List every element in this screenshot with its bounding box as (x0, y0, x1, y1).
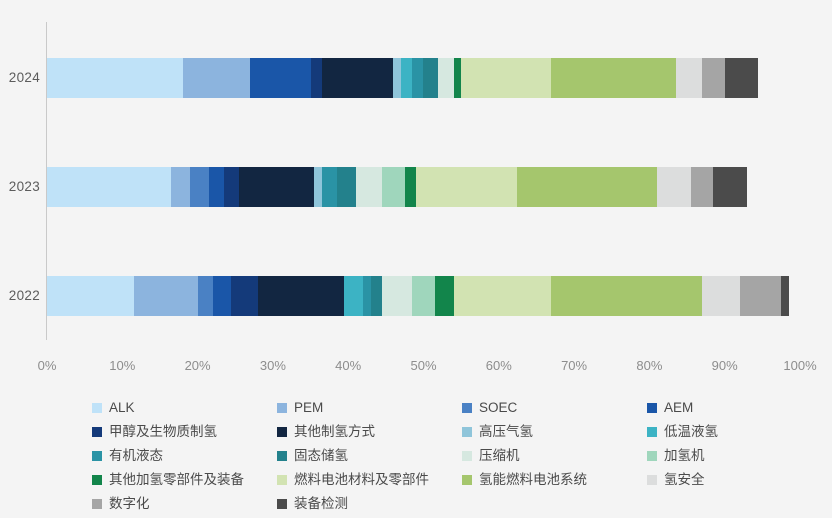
legend-item-label: 有机液态 (109, 449, 163, 463)
bar-segment[interactable] (405, 167, 416, 207)
legend-swatch-icon (92, 451, 102, 461)
legend-swatch-icon (277, 427, 287, 437)
legend-item-label: 甲醇及生物质制氢 (109, 425, 217, 439)
bar-segment[interactable] (702, 276, 740, 316)
legend-item[interactable]: 高压气氢 (462, 420, 647, 444)
x-tick-70: 70% (561, 358, 587, 373)
legend-item-label: 其他制氢方式 (294, 425, 375, 439)
bar-segment[interactable] (337, 167, 356, 207)
bar-segment[interactable] (551, 58, 675, 98)
bar-segment[interactable] (47, 58, 183, 98)
bar-segment[interactable] (551, 276, 702, 316)
bar-segment[interactable] (322, 167, 337, 207)
x-tick-60: 60% (486, 358, 512, 373)
legend-item[interactable]: SOEC (462, 396, 647, 420)
legend-item-label: 氢能燃料电池系统 (479, 473, 587, 487)
bar-segment[interactable] (258, 276, 345, 316)
legend-item-label: PEM (294, 401, 323, 415)
legend-item-label: 固态储氢 (294, 449, 348, 463)
bar-segment[interactable] (198, 276, 213, 316)
bar-segment[interactable] (435, 276, 454, 316)
x-tick-40: 40% (335, 358, 361, 373)
legend-item[interactable]: 燃料电池材料及零部件 (277, 468, 462, 492)
bar-segment[interactable] (371, 276, 382, 316)
bar-segment[interactable] (47, 167, 171, 207)
legend-item-label: 高压气氢 (479, 425, 533, 439)
legend-swatch-icon (92, 403, 102, 413)
bar-segment[interactable] (134, 276, 198, 316)
legend-item-label: 其他加氢零部件及装备 (109, 473, 244, 487)
bar-segment[interactable] (416, 167, 518, 207)
bar-segment[interactable] (702, 58, 725, 98)
stacked-bar-chart: 202420232022 0%10%20%30%40%50%60%70%80%9… (0, 0, 832, 518)
legend-swatch-icon (277, 451, 287, 461)
legend-item[interactable]: 数字化 (92, 492, 277, 516)
legend-swatch-icon (92, 499, 102, 509)
bar-segment[interactable] (454, 276, 552, 316)
legend-item[interactable]: 其他加氢零部件及装备 (92, 468, 277, 492)
bar-segment[interactable] (713, 167, 747, 207)
bar-segment[interactable] (412, 58, 423, 98)
legend-swatch-icon (277, 475, 287, 485)
legend-item[interactable]: 甲醇及生物质制氢 (92, 420, 277, 444)
legend-item-label: SOEC (479, 401, 517, 415)
bar-2023[interactable] (47, 167, 800, 207)
legend-swatch-icon (462, 475, 472, 485)
bar-segment[interactable] (250, 58, 310, 98)
legend-item[interactable]: 压缩机 (462, 444, 647, 468)
legend-item-label: 压缩机 (479, 449, 520, 463)
legend-item-label: ALK (109, 401, 135, 415)
legend-item[interactable]: ALK (92, 396, 277, 420)
bar-segment[interactable] (239, 167, 314, 207)
bar-segment[interactable] (412, 276, 435, 316)
bar-segment[interactable] (213, 276, 232, 316)
bar-segment[interactable] (314, 167, 322, 207)
legend-swatch-icon (647, 451, 657, 461)
legend-item[interactable]: 氢安全 (647, 468, 832, 492)
bar-segment[interactable] (423, 58, 438, 98)
bar-segment[interactable] (311, 58, 322, 98)
legend-item-label: 装备检测 (294, 497, 348, 511)
bar-segment[interactable] (657, 167, 691, 207)
x-tick-50: 50% (410, 358, 436, 373)
bar-segment[interactable] (47, 276, 134, 316)
bar-segment[interactable] (344, 276, 363, 316)
bar-segment[interactable] (190, 167, 209, 207)
bar-2024[interactable] (47, 58, 800, 98)
legend-item-label: 数字化 (109, 497, 150, 511)
bar-segment[interactable] (382, 167, 405, 207)
bar-segment[interactable] (363, 276, 371, 316)
category-label-2023: 2023 (0, 179, 40, 194)
legend-swatch-icon (462, 427, 472, 437)
legend-swatch-icon (647, 475, 657, 485)
legend-item-label: 燃料电池材料及零部件 (294, 473, 429, 487)
bar-segment[interactable] (725, 58, 759, 98)
legend-item-label: 低温液氢 (664, 425, 718, 439)
legend-item[interactable]: PEM (277, 396, 462, 420)
legend-item-label: 氢安全 (664, 473, 705, 487)
bar-segment[interactable] (438, 58, 453, 98)
plot-area: 202420232022 0%10%20%30%40%50%60%70%80%9… (0, 0, 832, 392)
legend-swatch-icon (647, 427, 657, 437)
bar-segment[interactable] (781, 276, 789, 316)
legend-swatch-icon (92, 475, 102, 485)
legend-item[interactable]: 有机液态 (92, 444, 277, 468)
x-tick-100: 100% (783, 358, 816, 373)
bar-segment[interactable] (231, 276, 257, 316)
bar-segment[interactable] (461, 58, 551, 98)
x-tick-90: 90% (712, 358, 738, 373)
chart-legend: ALKPEMSOECAEM甲醇及生物质制氢其他制氢方式高压气氢低温液氢有机液态固… (92, 396, 832, 516)
legend-swatch-icon (92, 427, 102, 437)
category-label-2022: 2022 (0, 288, 40, 303)
x-tick-0: 0% (38, 358, 57, 373)
legend-item[interactable]: 氢能燃料电池系统 (462, 468, 647, 492)
bar-segment[interactable] (183, 58, 251, 98)
x-tick-20: 20% (185, 358, 211, 373)
legend-item[interactable]: 加氢机 (647, 444, 832, 468)
bar-2022[interactable] (47, 276, 800, 316)
legend-item[interactable]: 装备检测 (277, 492, 462, 516)
bar-segment[interactable] (676, 58, 702, 98)
x-tick-80: 80% (636, 358, 662, 373)
bar-segment[interactable] (454, 58, 462, 98)
legend-swatch-icon (647, 403, 657, 413)
legend-swatch-icon (277, 499, 287, 509)
bar-segment[interactable] (691, 167, 714, 207)
bar-segment[interactable] (401, 58, 412, 98)
bar-segment[interactable] (740, 276, 781, 316)
bar-segment[interactable] (393, 58, 401, 98)
bar-segment[interactable] (322, 58, 394, 98)
legend-item[interactable]: AEM (647, 396, 832, 420)
legend-item[interactable]: 固态储氢 (277, 444, 462, 468)
bar-segment[interactable] (171, 167, 190, 207)
legend-swatch-icon (462, 403, 472, 413)
legend-swatch-icon (462, 451, 472, 461)
bar-segment[interactable] (209, 167, 224, 207)
x-tick-30: 30% (260, 358, 286, 373)
legend-item[interactable]: 低温液氢 (647, 420, 832, 444)
legend-item[interactable]: 其他制氢方式 (277, 420, 462, 444)
legend-item-label: 加氢机 (664, 449, 705, 463)
bar-segment[interactable] (224, 167, 239, 207)
legend-item-label: AEM (664, 401, 693, 415)
bar-segment[interactable] (382, 276, 412, 316)
legend-swatch-icon (277, 403, 287, 413)
category-label-2024: 2024 (0, 70, 40, 85)
bar-segment[interactable] (356, 167, 382, 207)
x-tick-10: 10% (109, 358, 135, 373)
bar-segment[interactable] (517, 167, 656, 207)
